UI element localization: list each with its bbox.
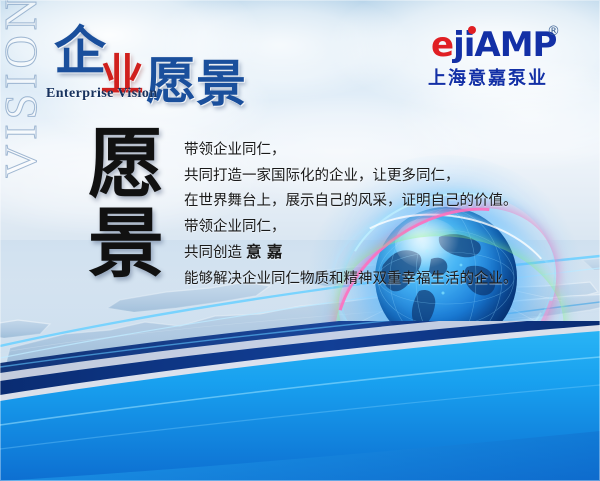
vertical-vision-label: VISION xyxy=(0,0,47,178)
vision-line: 能够解决企业同仁物质和精神双重幸福生活的企业。 xyxy=(184,267,584,293)
vision-line-create: 共同创造意 嘉 xyxy=(184,240,584,267)
company-logo[interactable]: ejiAMP ® 上海意嘉泵业 xyxy=(425,28,585,90)
big-char-jing: 景 xyxy=(88,210,164,278)
registered-trademark-icon: ® xyxy=(547,24,560,39)
title-char-qi: 企 xyxy=(54,26,106,78)
title-subtitle: Enterprise Vision xyxy=(46,86,157,102)
logo-letters-amp: AMP xyxy=(474,25,556,65)
vision-line: 带领企业同仁， xyxy=(184,215,584,241)
title-char-jing: 景 xyxy=(196,59,246,109)
logo-dot-icon xyxy=(468,26,476,34)
vision-poster: 企 业 愿 景 Enterprise Vision ejiAMP ® 上海意嘉泵… xyxy=(0,0,600,481)
vision-line: 带领企业同仁， xyxy=(184,138,584,164)
big-char-yuan: 愿 xyxy=(88,130,164,198)
feature-big-characters: 愿 景 xyxy=(88,130,180,300)
vision-statement-text: 带领企业同仁， 共同打造一家国际化的企业，让更多同仁， 在世界舞台上，展示自己的… xyxy=(184,138,584,292)
logo-wordmark: ejiAMP xyxy=(431,28,556,62)
page-title: 企 业 愿 景 Enterprise Vision xyxy=(40,26,280,112)
logo-letter-e: e xyxy=(431,25,453,65)
vision-line: 在世界舞台上，展示自己的风采，证明自己的价值。 xyxy=(184,189,584,215)
bottom-wave-band xyxy=(0,321,600,481)
vision-line: 共同打造一家国际化的企业，让更多同仁， xyxy=(184,164,584,190)
logo-company-name-cn: 上海意嘉泵业 xyxy=(428,64,548,90)
vision-line-create-emphasis: 意 嘉 xyxy=(242,243,282,261)
vision-line-create-prefix: 共同创造 xyxy=(184,245,242,261)
